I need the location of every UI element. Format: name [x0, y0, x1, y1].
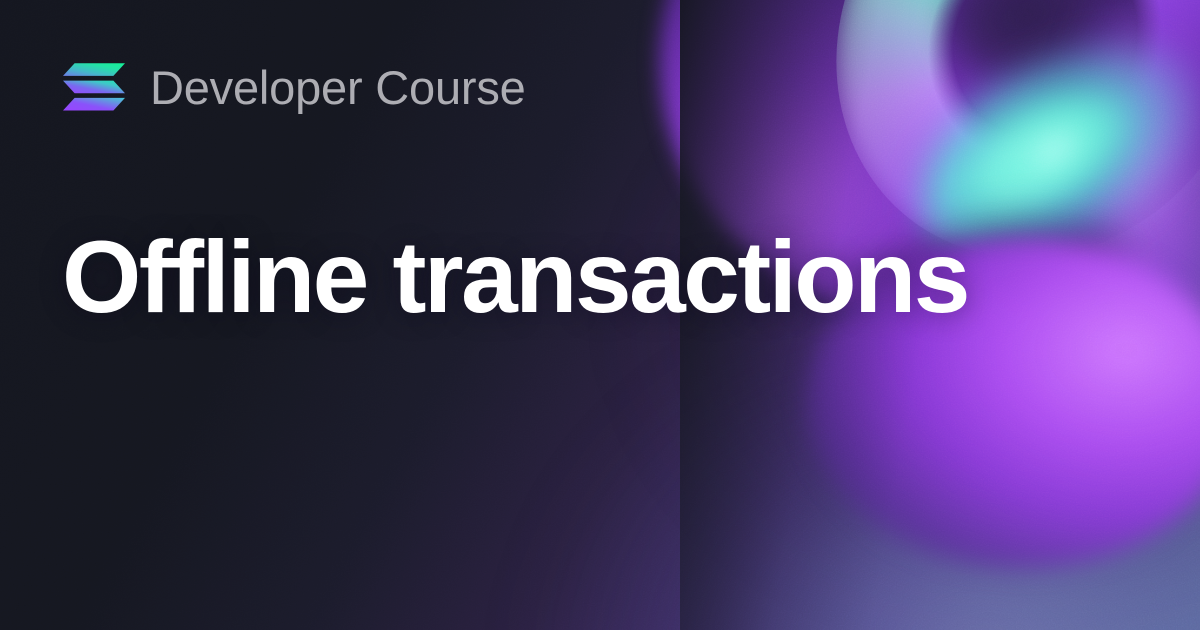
content-block: Developer Course Offline transactions [62, 0, 1062, 630]
solana-logo-icon [62, 62, 126, 112]
page-title: Offline transactions [62, 223, 968, 331]
og-card: Developer Course Offline transactions [0, 0, 1200, 630]
brand-row: Developer Course [62, 62, 526, 112]
brand-label: Developer Course [150, 64, 526, 111]
